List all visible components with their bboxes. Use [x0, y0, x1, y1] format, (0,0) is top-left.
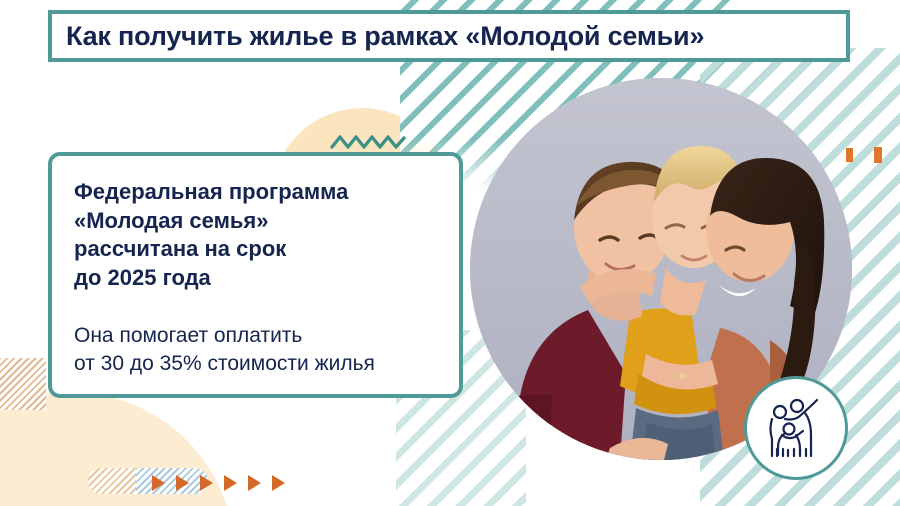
info-heading-line-4: до 2025 года	[74, 264, 439, 293]
triangle-arrow-icon-3	[200, 475, 213, 491]
triangle-arrow-icon-6	[272, 475, 285, 491]
orange-tick-decor-2	[874, 147, 882, 163]
slide-title-box: Как получить жилье в рамках «Молодой сем…	[48, 10, 850, 62]
hatched-bar-beige-decor	[88, 468, 136, 494]
family-icon	[763, 397, 829, 459]
triangle-arrow-icon-2	[176, 475, 189, 491]
orange-tick-decor-1	[846, 148, 853, 162]
info-heading-line-3: рассчитана на срок	[74, 235, 439, 264]
info-heading-line-1: Федеральная программа	[74, 178, 439, 207]
family-badge	[744, 376, 848, 480]
triangle-arrow-icon-1	[152, 475, 165, 491]
info-heading-line-2: «Молодая семья»	[74, 207, 439, 236]
hatched-square-decor	[0, 358, 46, 410]
arrow-triangle-row	[152, 475, 285, 491]
triangle-arrow-icon-4	[224, 475, 237, 491]
info-body-line-2: от 30 до 35% стоимости жилья	[74, 350, 439, 377]
triangle-arrow-icon-5	[248, 475, 261, 491]
info-body-line-1: Она помогает оплатить	[74, 322, 439, 349]
info-card: Федеральная программа «Молодая семья» ра…	[48, 152, 463, 398]
info-card-heading: Федеральная программа «Молодая семья» ра…	[74, 178, 439, 292]
infographic-slide: Как получить жилье в рамках «Молодой сем…	[0, 0, 900, 506]
zigzag-icon	[330, 133, 408, 151]
info-card-body: Она помогает оплатить от 30 до 35% стоим…	[74, 322, 439, 377]
page-title: Как получить жилье в рамках «Молодой сем…	[66, 21, 704, 52]
